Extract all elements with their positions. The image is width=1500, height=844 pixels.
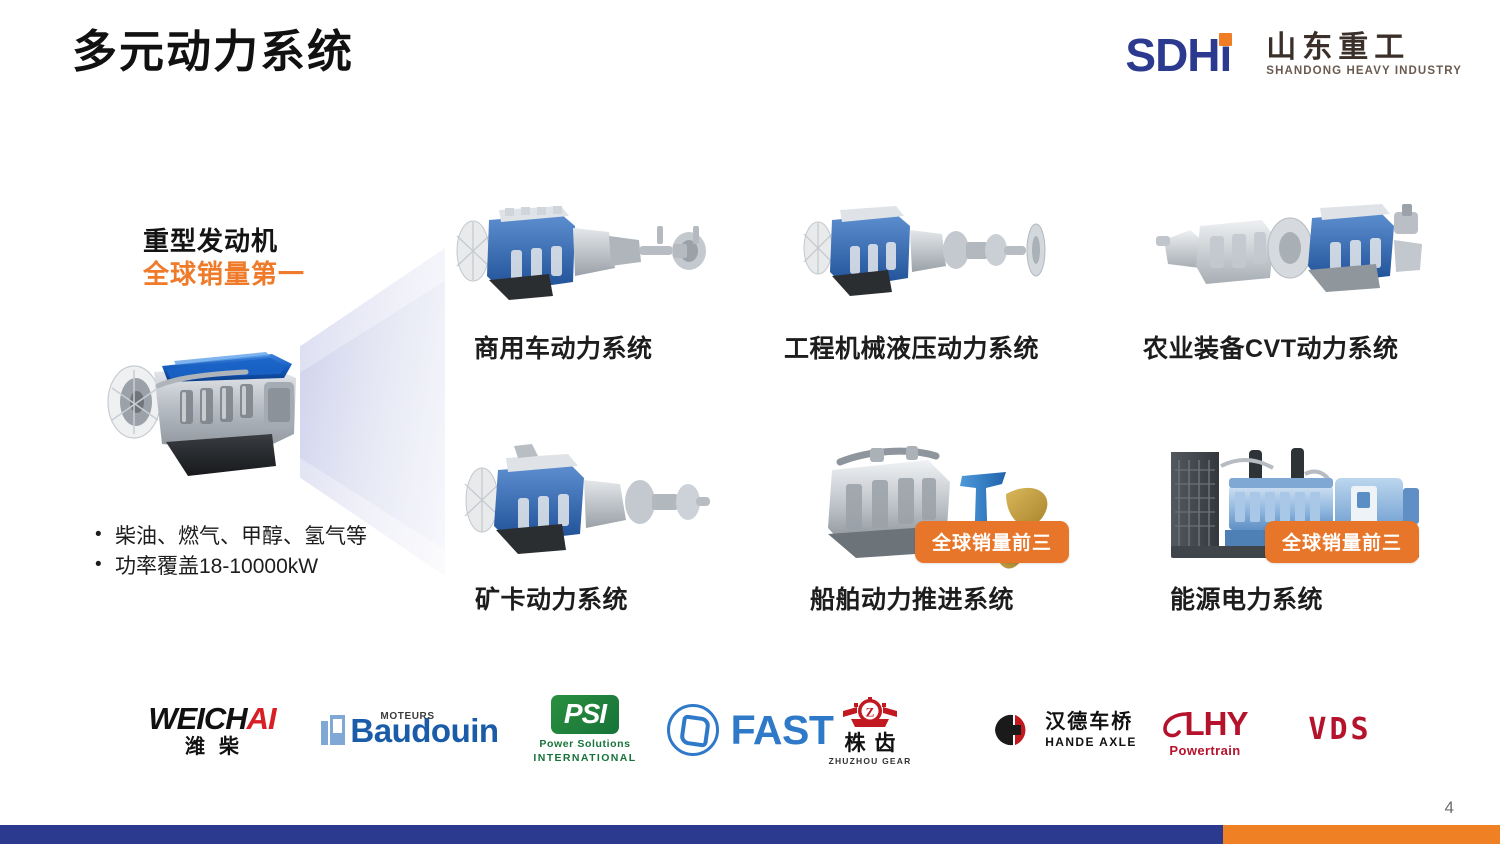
weichai-wordmark: WEICHAI	[148, 703, 275, 734]
footer-bar-orange	[1223, 825, 1500, 844]
fast-mark-icon	[667, 704, 719, 756]
weichai-name-cn: 潍柴	[171, 737, 253, 757]
lhy-sub-label: Powertrain	[1169, 744, 1240, 757]
company-name-cn: 山东重工	[1266, 33, 1462, 63]
partner-logo-baudouin: MOTEURS Baudouin	[325, 698, 495, 762]
system-label-agriculture-cvt: 农业装备CVT动力系统	[1143, 329, 1399, 365]
psi-badge: PSI	[551, 695, 619, 734]
company-logo: SDHi 山东重工 SHANDONG HEAVY INDUSTRY	[1125, 26, 1462, 84]
partner-logo-vds: VDS	[1285, 708, 1395, 752]
psi-wordmark: PSI	[564, 700, 606, 728]
footer-bar-blue	[0, 825, 1223, 844]
hero-label-line1: 重型发动机	[143, 225, 305, 258]
psi-sub-line1: Power Solutions	[539, 738, 630, 751]
sdhi-orange-dot-icon	[1219, 33, 1232, 46]
system-label-construction-hydraulic: 工程机械液压动力系统	[784, 329, 1039, 365]
footer-bar	[0, 825, 1500, 844]
vds-wordmark: VDS	[1308, 715, 1371, 745]
hero-bullet-item: 柴油、燃气、甲醇、氢气等	[92, 522, 367, 552]
heavy-duty-engine-image	[96, 330, 331, 490]
hande-name-en: HANDE AXLE	[1045, 736, 1137, 748]
hande-mark-icon	[993, 713, 1035, 747]
baudouin-mark-icon	[321, 715, 345, 745]
system-label-mining-truck: 矿卡动力系统	[475, 580, 628, 616]
construction-hydraulic-powertrain-image	[790, 196, 1060, 316]
company-name-block: 山东重工 SHANDONG HEAVY INDUSTRY	[1266, 33, 1462, 78]
sdhi-letters: SDH	[1125, 29, 1219, 81]
lhy-wordmark: LHY	[1163, 707, 1248, 740]
sdhi-wordmark: SDHi	[1125, 32, 1231, 78]
system-label-marine-propulsion: 船舶动力推进系统	[810, 580, 1014, 616]
partner-logo-zhuzhou-gear: Z 株齿 ZHUZHOU GEAR	[810, 688, 930, 774]
zhuzhou-name-en: ZHUZHOU GEAR	[829, 756, 912, 766]
system-label-energy-power: 能源电力系统	[1170, 580, 1323, 616]
psi-sub-line2: INTERNATIONAL	[533, 752, 636, 765]
lhy-letters: LHY	[1185, 705, 1248, 742]
hero-bullet-item: 功率覆盖18-10000kW	[92, 552, 367, 582]
logo-divider	[1247, 31, 1250, 79]
zhuzhou-gear-mark-icon: Z	[841, 697, 899, 731]
hande-name-cn: 汉德车桥	[1045, 712, 1137, 733]
zhuzhou-name-cn: 株齿	[836, 733, 905, 754]
mining-truck-powertrain-image	[452, 442, 714, 567]
partner-logo-hande-axle: 汉德车桥 HANDE AXLE	[970, 700, 1160, 760]
partner-logo-psi: PSI Power Solutions INTERNATIONAL	[520, 692, 650, 768]
status-badge-marine: 全球销量前三	[915, 521, 1069, 563]
partner-logo-lhy: LHY Powertrain	[1150, 696, 1260, 768]
hero-bullets: 柴油、燃气、甲醇、氢气等 功率覆盖18-10000kW	[92, 522, 367, 583]
weichai-wordmark-dark: WEICH	[148, 701, 246, 736]
weichai-wordmark-red: AI	[247, 701, 276, 736]
page-number: 4	[1445, 798, 1454, 818]
page-title: 多元动力系统	[72, 26, 354, 78]
svg-text:Z: Z	[866, 704, 875, 719]
system-label-commercial-vehicle: 商用车动力系统	[474, 329, 653, 365]
slide-root: 多元动力系统 SDHi 山东重工 SHANDONG HEAVY INDUSTRY…	[0, 0, 1500, 844]
hero-label-line2: 全球销量第一	[143, 258, 305, 291]
partner-logo-strip: WEICHAI 潍柴 MOTEURS Baudouin PSI	[0, 686, 1500, 778]
agriculture-cvt-powertrain-image	[1150, 192, 1430, 317]
commercial-vehicle-powertrain-image	[443, 196, 723, 316]
company-name-en: SHANDONG HEAVY INDUSTRY	[1266, 66, 1462, 78]
baudouin-moteurs-label: MOTEURS	[380, 711, 434, 722]
hero-label: 重型发动机 全球销量第一	[143, 225, 305, 290]
status-badge-energy-power: 全球销量前三	[1265, 521, 1419, 563]
partner-logo-weichai: WEICHAI 潍柴	[132, 694, 292, 766]
